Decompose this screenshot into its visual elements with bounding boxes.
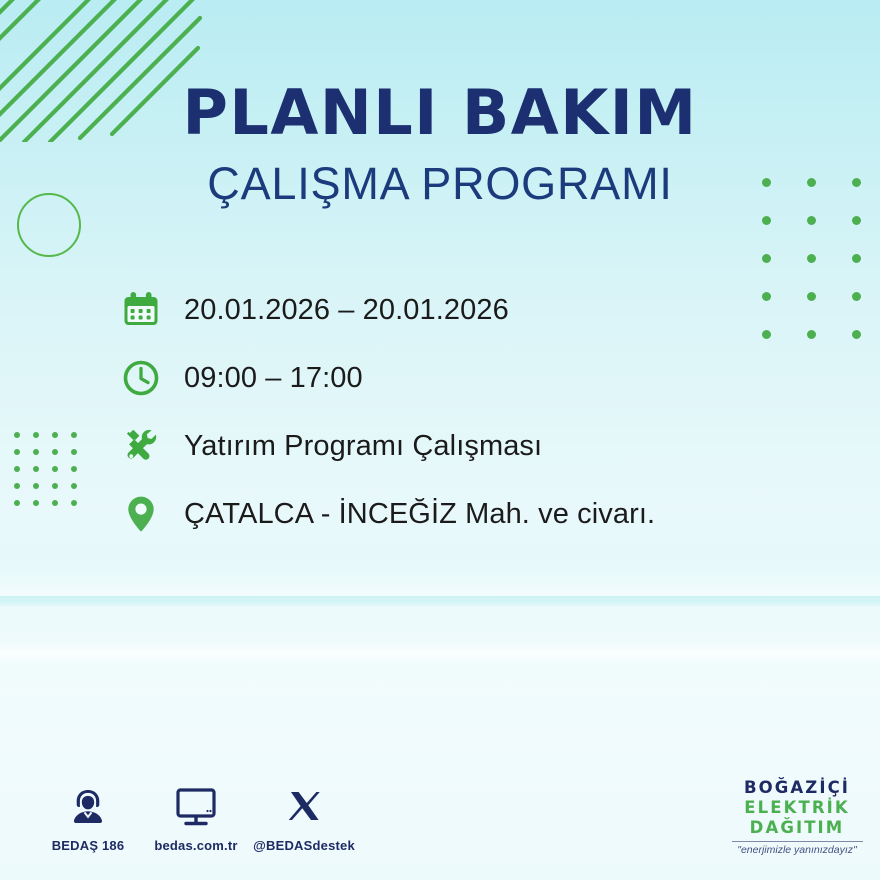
brand-line-3: DAĞITIM — [727, 818, 867, 838]
brand-divider — [732, 841, 863, 842]
background-band-divider — [0, 596, 880, 606]
x-twitter-icon — [252, 782, 356, 832]
bedas-logo: BOĞAZİÇİ ELEKTRİK DAĞITIM "enerjimizle y… — [727, 778, 867, 856]
contact-social[interactable]: @BEDASdestek — [252, 782, 356, 853]
poster-heading: PLANLI BAKIM ÇALIŞMA PROGRAMI — [0, 82, 880, 206]
brand-line-2: ELEKTRİK — [727, 798, 867, 818]
planned-maintenance-poster: PLANLI BAKIM ÇALIŞMA PROGRAMI — [0, 0, 880, 880]
detail-row-date: 20.01.2026 – 20.01.2026 — [118, 276, 818, 344]
clock-icon — [118, 355, 164, 401]
detail-row-location: ÇATALCA - İNCEĞİZ Mah. ve civarı. — [118, 480, 818, 548]
support-agent-icon — [36, 782, 140, 832]
background-band-highlight — [0, 640, 880, 666]
page-title: PLANLI BAKIM — [0, 82, 880, 144]
detail-time-range: 09:00 – 17:00 — [184, 362, 363, 395]
tools-icon — [118, 423, 164, 469]
contact-phone-label: BEDAŞ 186 — [36, 838, 140, 853]
detail-row-time: 09:00 – 17:00 — [118, 344, 818, 412]
detail-location: ÇATALCA - İNCEĞİZ Mah. ve civarı. — [184, 498, 655, 531]
contact-website[interactable]: bedas.com.tr — [144, 782, 248, 853]
detail-work-type: Yatırım Programı Çalışması — [184, 430, 542, 463]
monitor-icon — [144, 782, 248, 832]
dot-grid-left-decoration — [14, 432, 90, 517]
brand-tagline: "enerjimizle yanınızdayız" — [727, 844, 867, 856]
maintenance-details: 20.01.2026 – 20.01.2026 09:00 – 17:00 — [118, 276, 818, 548]
detail-row-worktype: Yatırım Programı Çalışması — [118, 412, 818, 480]
brand-line-1: BOĞAZİÇİ — [727, 778, 867, 798]
background-band-upper — [0, 560, 880, 600]
location-pin-icon — [118, 491, 164, 537]
background-band-lower — [0, 606, 880, 696]
detail-date-range: 20.01.2026 – 20.01.2026 — [184, 294, 509, 327]
contact-phone[interactable]: BEDAŞ 186 — [36, 782, 140, 853]
calendar-icon — [118, 287, 164, 333]
footer-contacts: BEDAŞ 186 bedas.com.tr — [36, 782, 360, 853]
contact-social-label: @BEDASdestek — [252, 838, 356, 853]
page-subtitle: ÇALIŞMA PROGRAMI — [0, 161, 880, 206]
contact-website-label: bedas.com.tr — [144, 838, 248, 853]
